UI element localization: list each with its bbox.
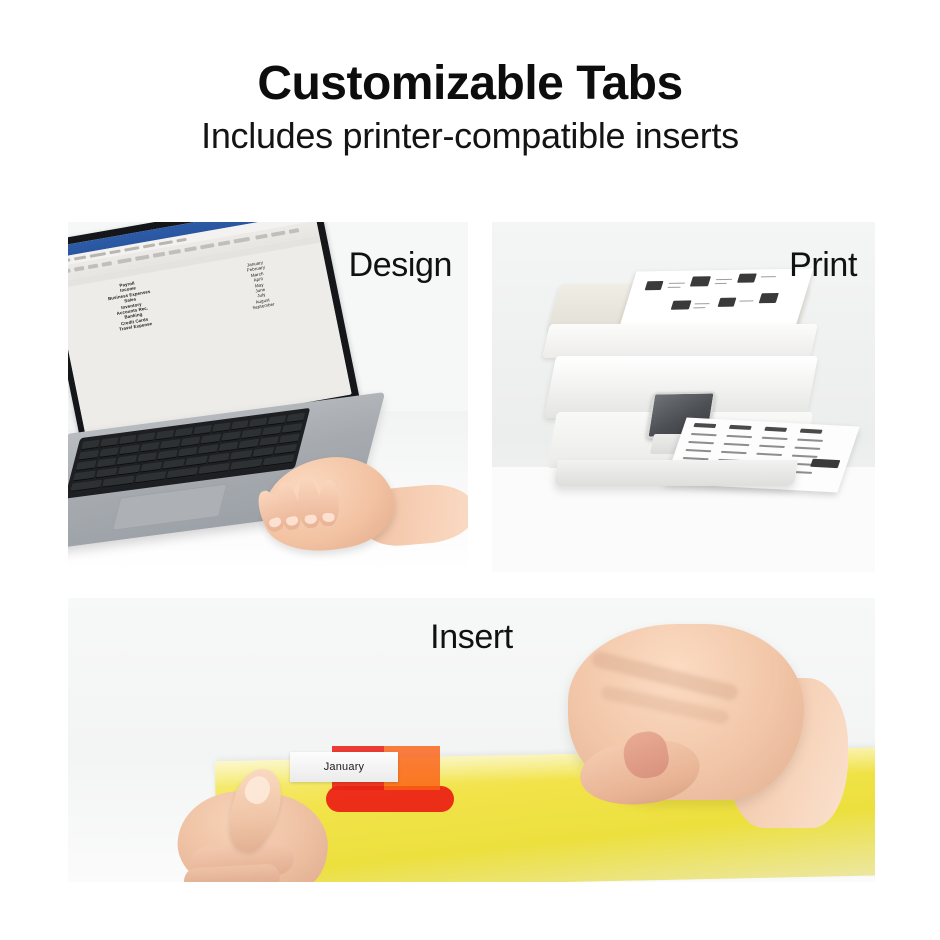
document-column-categories: Payroll Income Business Expenses Sales I… (68, 272, 215, 435)
panel-label-insert: Insert (430, 620, 513, 654)
label-sheet (619, 268, 814, 329)
printer-body-upper (542, 324, 818, 358)
document-column-months: January February March April May June Ju… (194, 250, 343, 413)
panel-design: Payroll Income Business Expenses Sales I… (68, 222, 468, 572)
header: Customizable Tabs Includes printer-compa… (0, 58, 940, 156)
hand-gripping-folder-icon (528, 624, 828, 864)
printer-base (554, 460, 798, 486)
printer-icon (532, 284, 832, 514)
panel-insert: January Insert (68, 598, 875, 882)
finger (317, 480, 340, 527)
hand-typing-icon (244, 450, 454, 562)
printed-insert-strip: January (290, 752, 398, 782)
fingernail (285, 515, 299, 526)
tab-insert-assembly: January (290, 738, 470, 828)
insert-label-text: January (324, 761, 365, 773)
page-title: Customizable Tabs (0, 58, 940, 110)
infographic-canvas: Customizable Tabs Includes printer-compa… (0, 0, 940, 940)
fingernail (304, 514, 317, 524)
fingernail (322, 513, 334, 522)
panel-label-print: Print (789, 248, 857, 282)
laptop-trackpad (112, 483, 228, 531)
panel-label-design: Design (349, 248, 452, 282)
page-subtitle: Includes printer-compatible inserts (0, 116, 940, 156)
panel-print: Print (492, 222, 875, 572)
thumbnail (241, 772, 274, 807)
